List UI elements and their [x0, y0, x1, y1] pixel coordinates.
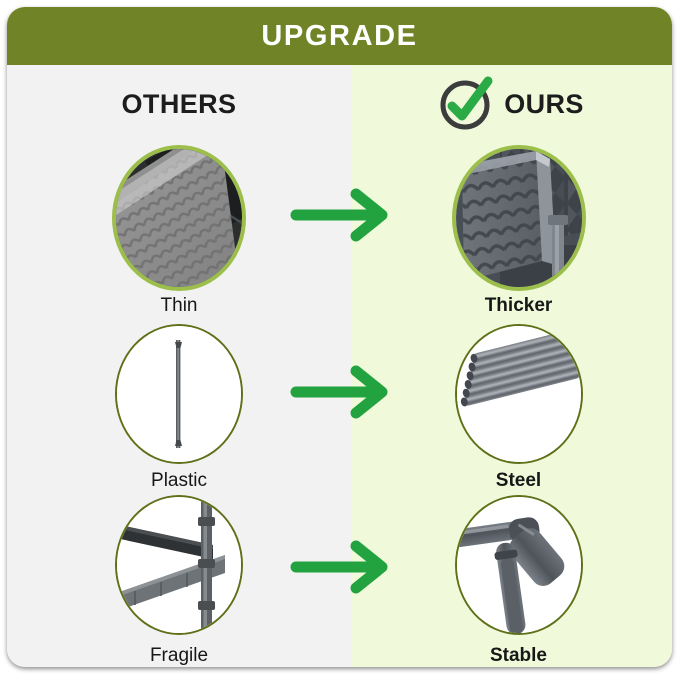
ours-caption: Thicker: [351, 295, 672, 317]
thicker-gray-panel-photo: [452, 145, 586, 291]
ours-heading: OURS: [351, 65, 672, 143]
ours-image-holder: [452, 145, 586, 291]
ours-image-holder: [455, 324, 583, 464]
others-caption: Plastic: [7, 470, 351, 492]
circle-check-icon: [439, 76, 495, 132]
others-caption: Thin: [7, 295, 351, 317]
ours-image-holder: [455, 495, 583, 635]
card-panel: UPGRADE OTHERS OURS: [7, 7, 672, 667]
comparison-row: Plastic: [7, 318, 672, 493]
thin-plastic-rod-photo: [115, 324, 243, 464]
header-bar: UPGRADE: [7, 7, 672, 65]
others-caption: Fragile: [7, 645, 351, 667]
ours-heading-label: OURS: [504, 89, 584, 120]
others-image-holder: [112, 145, 246, 291]
ours-caption: Stable: [351, 645, 672, 667]
arrow-right-icon: [290, 539, 402, 595]
thin-gray-panel-photo: [112, 145, 246, 291]
others-heading: OTHERS: [7, 65, 351, 143]
stable-steel-joint-photo: [455, 495, 583, 635]
column-headings: OTHERS OURS: [7, 65, 672, 143]
arrow-right-icon: [290, 364, 402, 420]
upgrade-comparison-card: UPGRADE OTHERS OURS: [0, 0, 679, 674]
fragile-plastic-frame-photo: [115, 495, 243, 635]
others-image-holder: [115, 324, 243, 464]
others-heading-label: OTHERS: [122, 89, 237, 120]
others-image-holder: [115, 495, 243, 635]
page-title: UPGRADE: [261, 20, 417, 53]
arrow-right-icon: [290, 187, 402, 243]
ours-caption: Steel: [351, 470, 672, 492]
comparison-row: Thin: [7, 143, 672, 318]
steel-tubes-photo: [455, 324, 583, 464]
comparison-row: Fragile: [7, 493, 672, 667]
